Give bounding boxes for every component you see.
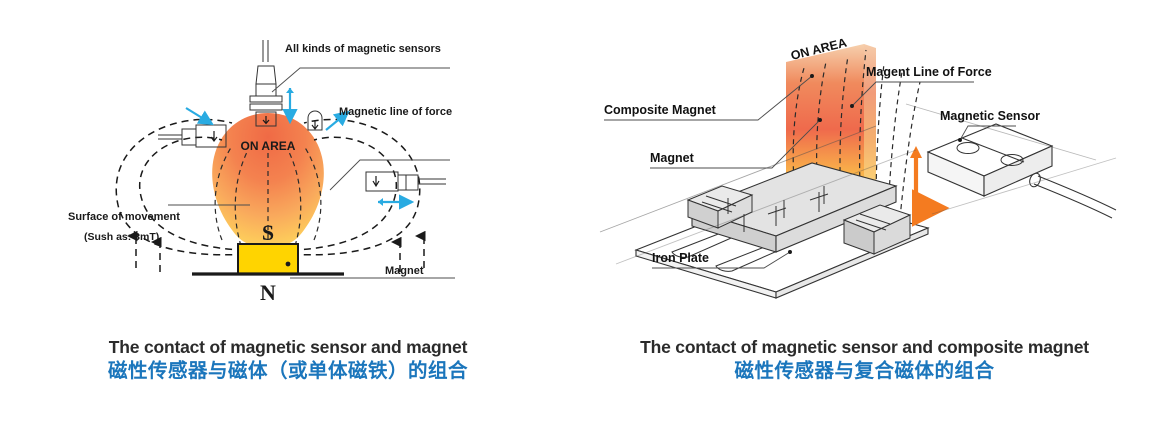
right-caption-english: The contact of magnetic sensor and compo… [576,336,1153,358]
horizontal-barrel-sensor[interactable] [158,125,226,147]
label-magnet-right: Magnet [650,151,695,165]
left-caption-english: The contact of magnetic sensor and magne… [0,336,576,358]
label-surface-of-movement: Surface of movement [68,211,180,223]
right-caption: The contact of magnetic sensor and compo… [576,336,1153,384]
right-panel: ON AREA [576,0,1153,423]
right-figure: ON AREA [576,0,1153,320]
right-caption-chinese: 磁性传感器与复合磁体的组合 [576,358,1153,384]
left-caption: The contact of magnetic sensor and magne… [0,336,576,384]
label-all-kinds-of-magnetic-sensors: All kinds of magnetic sensors [285,43,441,55]
on-area-label: ON AREA [241,139,296,153]
label-surface-of-movement-note: (Sush as: 3mT) [84,231,159,243]
left-panel: ON AREA [0,0,576,423]
label-iron-plate: Iron Plate [652,251,709,265]
label-magnetic-sensor: Magnetic Sensor [940,109,1040,123]
label-composite-magnet: Composite Magnet [604,103,717,117]
small-round-sensor[interactable] [308,111,322,130]
vertical-travel-arrow [910,146,922,208]
pole-s-label: S [262,220,274,245]
label-magnet: Magnet [385,265,424,277]
magnet-block [238,244,298,274]
label-magnetic-line-of-force: Magnetic line of force [339,106,452,118]
diagonal-motion-arrow-left [186,108,212,124]
label-magent-line-of-force: Magent Line of Force [866,65,992,79]
left-caption-chinese: 磁性传感器与磁体（或单体磁铁）的组合 [0,358,576,384]
left-figure: ON AREA [0,0,576,320]
green-barrel-sensor[interactable] [366,172,446,191]
pole-n-label: N [260,280,276,305]
